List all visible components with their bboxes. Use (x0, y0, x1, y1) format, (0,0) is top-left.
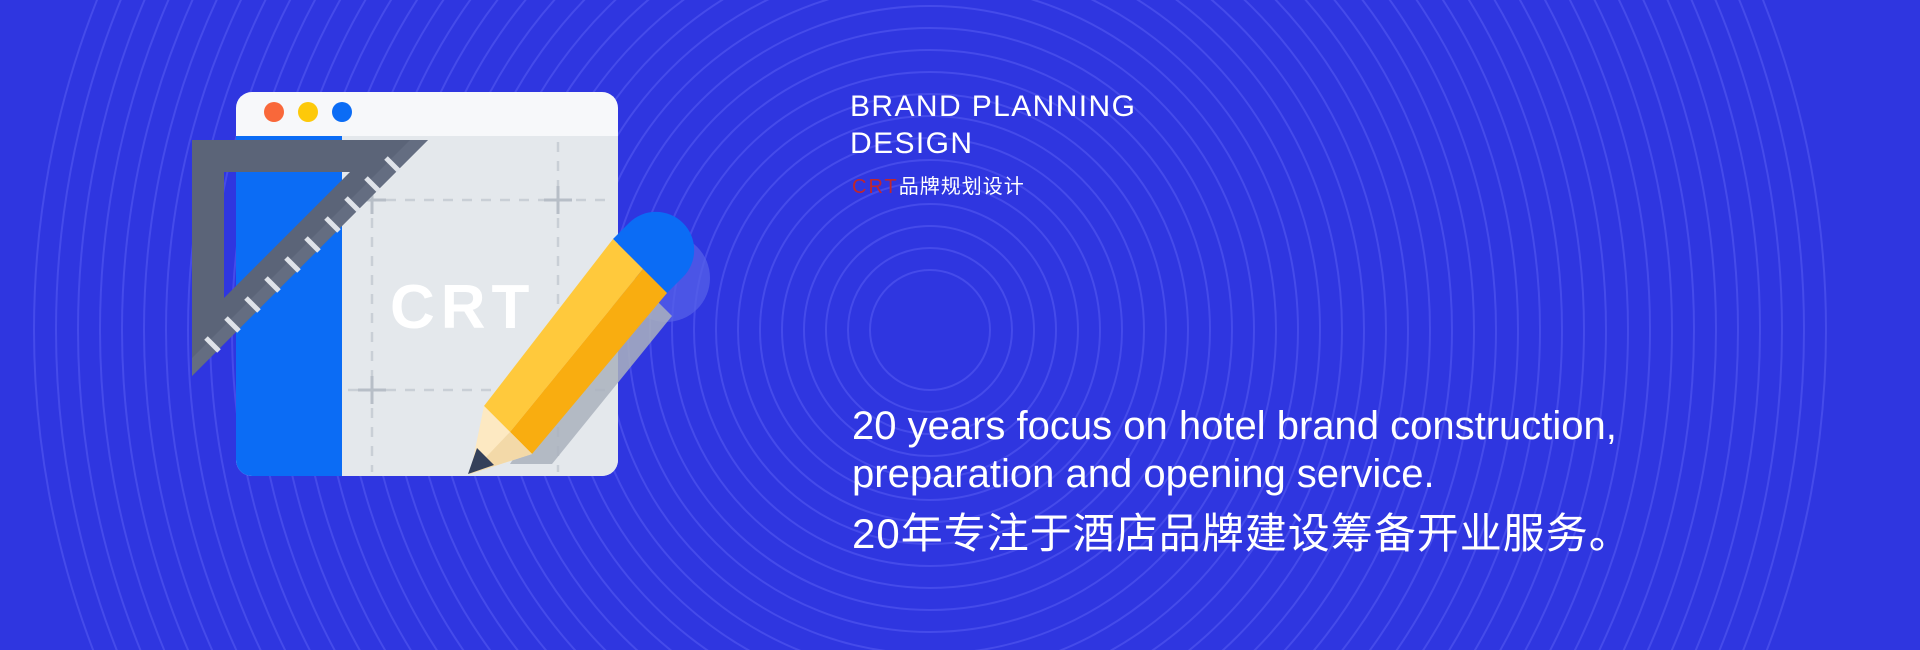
eyebrow-subtitle-cn-text: 品牌规划设计 (899, 176, 1025, 198)
eyebrow-line1: BRAND PLANNING (850, 90, 1136, 123)
eyebrow-subtitle-cn: CRT品牌规划设计 (852, 170, 1025, 199)
tagline-en-line2: preparation and opening service. (852, 452, 1435, 496)
minimize-dot (298, 102, 318, 122)
maximize-dot (332, 102, 352, 122)
crt-brand-mark: CRT (852, 176, 899, 198)
eyebrow-heading: BRAND PLANNING DESIGN (850, 88, 1370, 162)
crt-watermark: CRT (390, 273, 535, 342)
tagline-chinese: 20年专注于酒店品牌建设筹备开业服务。 (852, 508, 1632, 560)
banner-copy: BRAND PLANNING DESIGN CRT品牌规划设计 20 years… (850, 0, 1920, 650)
brand-design-illustration: CRT (180, 60, 860, 540)
close-dot (264, 102, 284, 122)
tagline-en-line1: 20 years focus on hotel brand constructi… (852, 404, 1617, 448)
promo-banner: CRT (0, 0, 1920, 650)
eyebrow-line2: DESIGN (850, 127, 973, 160)
tagline-english: 20 years focus on hotel brand constructi… (852, 402, 1852, 498)
